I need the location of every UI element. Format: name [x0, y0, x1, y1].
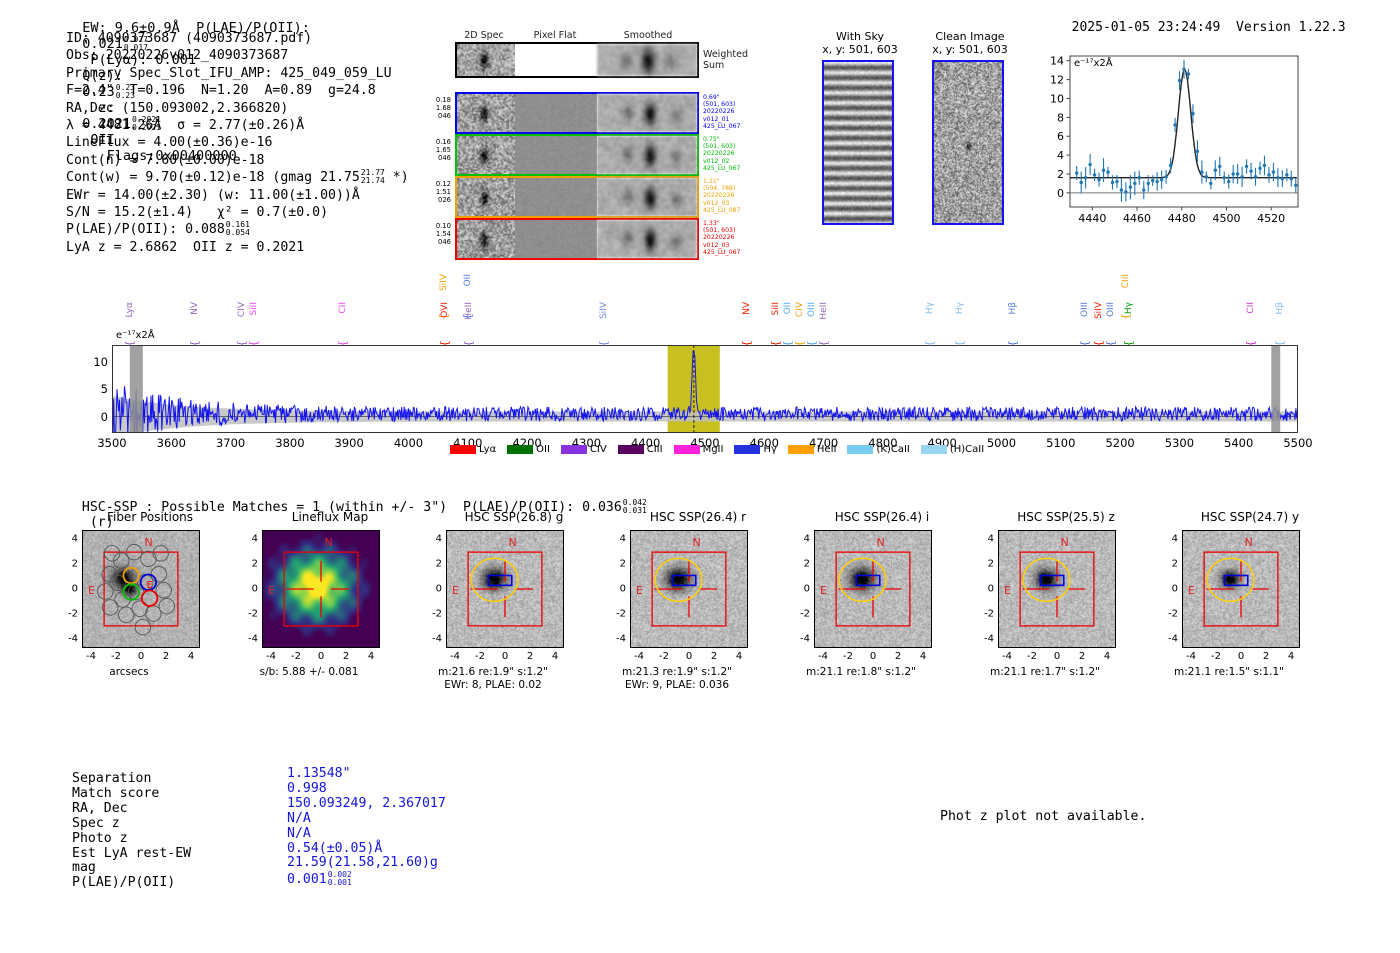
- image-panel-title: HSC SSP(26.8) g: [434, 510, 594, 524]
- image-panel-lineflux: Lineflux MapNE-4-2024420-2-4s/b: 5.88 +/…: [240, 510, 420, 524]
- detail-row-label: P(LAE)/P(OII): [72, 876, 175, 891]
- spectrum-line-label: CIV: [237, 302, 247, 317]
- spectrum-xtick: 3900: [335, 436, 364, 450]
- legend-swatch: [507, 445, 533, 454]
- image-panel-caption-primary: s/b: 5.88 +/- 0.081: [234, 666, 384, 678]
- imaging-panel-row: Fiber PositionsENE-4-2024420-2-4arcsecsL…: [0, 0, 1400, 240]
- detail-row-label: RA, Dec: [72, 802, 128, 817]
- spectrum-ytick: 10: [82, 355, 108, 369]
- cutout-image[interactable]: [262, 530, 380, 648]
- spectrum-line-label: OII: [463, 274, 473, 286]
- cutout-ytick: -2: [60, 609, 78, 620]
- image-panel-title: HSC SSP(25.5) z: [986, 510, 1146, 524]
- info-redshifts: LyA z = 2.6862 OII z = 0.2021: [66, 239, 409, 256]
- cutout-ytick: -2: [424, 609, 442, 620]
- spectrum-ytick: 5: [82, 382, 108, 396]
- spectrum-line-brace: {: [597, 340, 610, 347]
- spectrum-line-brace: {: [1244, 340, 1257, 347]
- image-panel-title: HSC SSP(24.7) y: [1170, 510, 1330, 524]
- cutout-ytick: 2: [240, 559, 258, 570]
- spectrum-masked-band: [130, 345, 143, 433]
- cutout-xtick: 0: [686, 651, 692, 662]
- legend-label: Hγ: [763, 444, 776, 455]
- cutout-xtick: 4: [736, 651, 742, 662]
- north-label: N: [1245, 536, 1253, 549]
- cutout-xtick: 4: [1104, 651, 1110, 662]
- cutout-ytick: 2: [792, 559, 810, 570]
- image-panel-title: Fiber Positions: [70, 510, 230, 524]
- image-panel-title: Lineflux Map: [250, 510, 410, 524]
- cutout-ytick: 0: [60, 584, 78, 595]
- cutout-image[interactable]: [82, 530, 200, 648]
- detail-row-label: Photo z: [72, 832, 128, 847]
- legend-item: CIV: [561, 444, 607, 455]
- spectrum-line-brace: {: [1104, 340, 1117, 347]
- image-panel-cutout: HSC SSP(24.7) yNE-4-2024420-2-4m:21.1 re…: [1160, 510, 1340, 524]
- spectrum-line-label: NV: [190, 302, 200, 315]
- cutout-xtick: 2: [711, 651, 717, 662]
- spectrum-line-brace: {: [438, 340, 451, 347]
- detail-row-value: 21.59(21.58,21.60)g: [287, 856, 438, 871]
- cutout-xtick: -2: [843, 651, 853, 662]
- legend-label: Lyα: [479, 444, 496, 455]
- spectrum-line-brace: {: [793, 340, 806, 347]
- detail-row-value: 0.0010.0020.001: [287, 871, 352, 888]
- legend-item: Hγ: [734, 444, 776, 455]
- spectrum-line-label: Hγ: [1124, 302, 1134, 314]
- cutout-xtick: 2: [527, 651, 533, 662]
- spectrum-line-brace: {: [817, 340, 830, 347]
- image-panel-caption-primary: arcsecs: [54, 666, 204, 678]
- spectrum-line-brace: {: [1078, 340, 1091, 347]
- cutout-ytick: 2: [1160, 559, 1178, 570]
- detail-row-label: Separation: [72, 772, 151, 787]
- spectrum-line-brace: {: [188, 340, 201, 347]
- legend-item: HeII: [788, 444, 837, 455]
- image-panel-fiber: Fiber PositionsENE-4-2024420-2-4arcsecs: [60, 510, 240, 524]
- north-label: N: [145, 536, 153, 549]
- cutout-xtick: -4: [266, 651, 276, 662]
- cutout-ytick: -2: [976, 609, 994, 620]
- spectrum-line-brace: {: [953, 340, 966, 347]
- cutout-ytick: 0: [976, 584, 994, 595]
- cutout-ytick: -2: [792, 609, 810, 620]
- north-label: N: [1061, 536, 1069, 549]
- photz-note: Phot z plot not available.: [940, 809, 1146, 824]
- north-label: N: [693, 536, 701, 549]
- spectrum-line-label: SiII: [249, 302, 259, 316]
- spectrum-line-label: OIII: [1080, 302, 1090, 317]
- cutout-ytick: 0: [240, 584, 258, 595]
- cutout-xtick: 0: [1054, 651, 1060, 662]
- cutout-xtick: 0: [138, 651, 144, 662]
- image-panel-caption-primary: m:21.6 re:1.9" s:1.2": [418, 666, 568, 678]
- cutout-image[interactable]: [814, 530, 932, 648]
- legend-label: (H)CaII: [950, 444, 984, 455]
- cutout-xtick: -2: [475, 651, 485, 662]
- spectrum-xtick: 4000: [394, 436, 423, 450]
- legend-swatch: [618, 445, 644, 454]
- cutout-xtick: -2: [291, 651, 301, 662]
- detail-row-value: 1.13548": [287, 767, 351, 782]
- legend-item: (K)CaII: [847, 444, 909, 455]
- east-label: E: [1004, 584, 1011, 597]
- north-label: N: [509, 536, 517, 549]
- legend-label: MgII: [703, 444, 724, 455]
- spectrum-line-brace: {: [123, 340, 136, 347]
- legend-swatch: [734, 445, 760, 454]
- image-panel-cutout: HSC SSP(25.5) zNE-4-2024420-2-4m:21.1 re…: [976, 510, 1156, 524]
- full-spectrum-plot: [112, 345, 1298, 433]
- cutout-xtick: -4: [1186, 651, 1196, 662]
- cutout-xtick: 4: [368, 651, 374, 662]
- cutout-ytick: 4: [608, 534, 626, 545]
- spectrum-ytick: 0: [82, 410, 108, 424]
- cutout-xtick: 0: [318, 651, 324, 662]
- spectrum-xtick: 3800: [275, 436, 304, 450]
- spectrum-xtick: 3700: [216, 436, 245, 450]
- spectrum-line-label: CIII: [1121, 274, 1131, 288]
- image-panel-caption-primary: m:21.1 re:1.8" s:1.2": [786, 666, 936, 678]
- spectrum-masked-band: [1271, 345, 1280, 433]
- spectrum-line-label: OIII: [1106, 302, 1116, 317]
- spectrum-line-label: OII: [783, 302, 793, 314]
- image-panel-cutout: HSC SSP(26.4) iNE-4-2024420-2-4m:21.1 re…: [792, 510, 972, 524]
- spectrum-line-label: Hγ: [925, 302, 935, 314]
- cutout-ytick: -4: [60, 634, 78, 645]
- cutout-ytick: 0: [424, 584, 442, 595]
- spectrum-line-label: HeII: [464, 302, 474, 320]
- spectrum-line-label: Hβ: [1275, 302, 1285, 315]
- cutout-xtick: 4: [1288, 651, 1294, 662]
- north-label: N: [325, 536, 333, 549]
- cutout-xtick: 2: [163, 651, 169, 662]
- detail-row-label: Est LyA rest-EW: [72, 847, 191, 862]
- cutout-ytick: -4: [608, 634, 626, 645]
- legend-label: CIII: [647, 444, 663, 455]
- spectrum-xtick: 3500: [97, 436, 126, 450]
- legend-label: (K)CaII: [876, 444, 909, 455]
- cutout-xtick: 0: [870, 651, 876, 662]
- east-label: E: [88, 584, 95, 597]
- spectrum-line-label: Hγ: [955, 302, 965, 314]
- image-panel-caption-primary: m:21.1 re:1.5" s:1.1": [1154, 666, 1304, 678]
- cutout-ytick: 0: [1160, 584, 1178, 595]
- spectrum-line-label: Lyα: [125, 302, 135, 317]
- legend-label: OII: [536, 444, 550, 455]
- legend-item: OII: [507, 444, 550, 455]
- spectrum-line-brace: {: [1273, 340, 1286, 347]
- cutout-xtick: 4: [552, 651, 558, 662]
- cutout-ytick: -2: [608, 609, 626, 620]
- spectrum-line-label: Hβ: [1008, 302, 1018, 315]
- cutout-ytick: -4: [1160, 634, 1178, 645]
- cutout-xtick: 2: [343, 651, 349, 662]
- legend-swatch: [788, 445, 814, 454]
- cutout-xtick: 2: [895, 651, 901, 662]
- cutout-ytick: -4: [792, 634, 810, 645]
- legend-swatch: [450, 445, 476, 454]
- cutout-image[interactable]: [1182, 530, 1300, 648]
- cutout-image[interactable]: [998, 530, 1116, 648]
- spectrum-legend: LyαOIICIVCIIIMgIIHγHeII(K)CaII(H)CaII: [450, 444, 984, 455]
- spectrum-line-brace: {: [462, 340, 475, 347]
- legend-item: MgII: [674, 444, 724, 455]
- cutout-xtick: -4: [86, 651, 96, 662]
- spectrum-line-label: SiIV: [439, 274, 449, 291]
- cutout-xtick: 0: [502, 651, 508, 662]
- cutout-xtick: 2: [1079, 651, 1085, 662]
- spectrum-line-brace: {: [336, 340, 349, 347]
- cutout-xtick: 0: [1238, 651, 1244, 662]
- legend-item: Lyα: [450, 444, 496, 455]
- image-panel-caption-secondary: EWr: 8, PLAE: 0.02: [418, 679, 568, 691]
- cutout-ytick: 4: [240, 534, 258, 545]
- image-panel-caption-primary: m:21.3 re:1.9" s:1.2": [602, 666, 752, 678]
- cutout-xtick: 4: [188, 651, 194, 662]
- cutout-ytick: 4: [1160, 534, 1178, 545]
- legend-label: CIV: [590, 444, 607, 455]
- spectrum-line-label: HeII: [819, 302, 829, 320]
- cutout-ytick: 0: [608, 584, 626, 595]
- image-panel-cutout: HSC SSP(26.8) gNE-4-2024420-2-4m:21.6 re…: [424, 510, 604, 524]
- spectrum-xtick: 5400: [1224, 436, 1253, 450]
- detail-row-value: 0.54(±0.05)Å: [287, 842, 382, 857]
- spectrum-line-brace: {: [247, 340, 260, 347]
- image-panel-title: HSC SSP(26.4) i: [802, 510, 962, 524]
- cutout-image[interactable]: [446, 530, 564, 648]
- cutout-xtick: -4: [634, 651, 644, 662]
- cutout-xtick: -2: [1211, 651, 1221, 662]
- legend-item: CIII: [618, 444, 663, 455]
- east-label: E: [820, 584, 827, 597]
- spectrum-xtick: 5000: [987, 436, 1016, 450]
- spectrum-line-brace: {: [1006, 340, 1019, 347]
- cutout-ytick: -2: [240, 609, 258, 620]
- east-label: E: [636, 584, 643, 597]
- spectrum-line-brace: {: [1122, 340, 1135, 347]
- spectrum-xtick: 5100: [1046, 436, 1075, 450]
- spectrum-line-brace: {: [805, 340, 818, 347]
- legend-swatch: [847, 445, 873, 454]
- cutout-ytick: 0: [792, 584, 810, 595]
- cutout-xtick: -4: [1002, 651, 1012, 662]
- cutout-ytick: 4: [60, 534, 78, 545]
- spectrum-line-brace: {: [740, 340, 753, 347]
- east-label: E: [268, 584, 275, 597]
- cutout-xtick: -2: [1027, 651, 1037, 662]
- full-spectrum-svg: [112, 345, 1298, 433]
- image-panel-cutout: HSC SSP(26.4) rNE-4-2024420-2-4m:21.3 re…: [608, 510, 788, 524]
- spectrum-xtick: 5300: [1165, 436, 1194, 450]
- spectrum-xtick: 5200: [1105, 436, 1134, 450]
- east-label: E: [1188, 584, 1195, 597]
- cutout-ytick: 2: [976, 559, 994, 570]
- spectrum-line-label: SiIV: [599, 302, 609, 319]
- spectrum-line-brace: {: [923, 340, 936, 347]
- cutout-xtick: -4: [818, 651, 828, 662]
- legend-swatch: [921, 445, 947, 454]
- cutout-xtick: 4: [920, 651, 926, 662]
- detail-row-value: N/A: [287, 827, 311, 842]
- cutout-ytick: -4: [976, 634, 994, 645]
- spectrum-line-label: CII: [1246, 302, 1256, 314]
- cutout-image[interactable]: [630, 530, 748, 648]
- spectrum-xtick: 5500: [1283, 436, 1312, 450]
- cutout-ytick: 4: [792, 534, 810, 545]
- cutout-ytick: 2: [60, 559, 78, 570]
- cutout-ytick: 2: [424, 559, 442, 570]
- detail-row-label: mag: [72, 861, 96, 876]
- east-label: E: [452, 584, 459, 597]
- spectrum-line-label: SiII: [771, 302, 781, 316]
- spectrum-line-label: CIV: [795, 302, 805, 317]
- spectrum-xtick: 3600: [157, 436, 186, 450]
- image-panel-caption-secondary: EWr: 9, PLAE: 0.036: [602, 679, 752, 691]
- spectrum-line-label: OIII: [807, 302, 817, 317]
- legend-swatch: [674, 445, 700, 454]
- spectrum-line-label: NV: [742, 302, 752, 315]
- image-panel-title: HSC SSP(26.4) r: [618, 510, 778, 524]
- cutout-ytick: -4: [424, 634, 442, 645]
- cutout-ytick: 4: [976, 534, 994, 545]
- legend-item: (H)CaII: [921, 444, 984, 455]
- cutout-xtick: -2: [111, 651, 121, 662]
- cutout-xtick: -4: [450, 651, 460, 662]
- cutout-ytick: -2: [1160, 609, 1178, 620]
- cutout-xtick: 2: [1263, 651, 1269, 662]
- detail-row-label: Spec z: [72, 817, 120, 832]
- detail-row-value: 0.998: [287, 782, 327, 797]
- cutout-ytick: -4: [240, 634, 258, 645]
- cutout-xtick: -2: [659, 651, 669, 662]
- detail-row-value: N/A: [287, 812, 311, 827]
- north-label: N: [877, 536, 885, 549]
- cutout-ytick: 4: [424, 534, 442, 545]
- image-panel-caption-primary: m:21.1 re:1.7" s:1.2": [970, 666, 1120, 678]
- spectrum-line-label: CII: [338, 302, 348, 314]
- spectrum-line-label: OVI: [440, 302, 450, 318]
- cutout-ytick: 2: [608, 559, 626, 570]
- spectrum-line-label: SiIV: [1094, 302, 1104, 319]
- legend-label: HeII: [817, 444, 837, 455]
- detail-row-label: Match score: [72, 787, 159, 802]
- detail-row-value: 150.093249, 2.367017: [287, 797, 446, 812]
- legend-swatch: [561, 445, 587, 454]
